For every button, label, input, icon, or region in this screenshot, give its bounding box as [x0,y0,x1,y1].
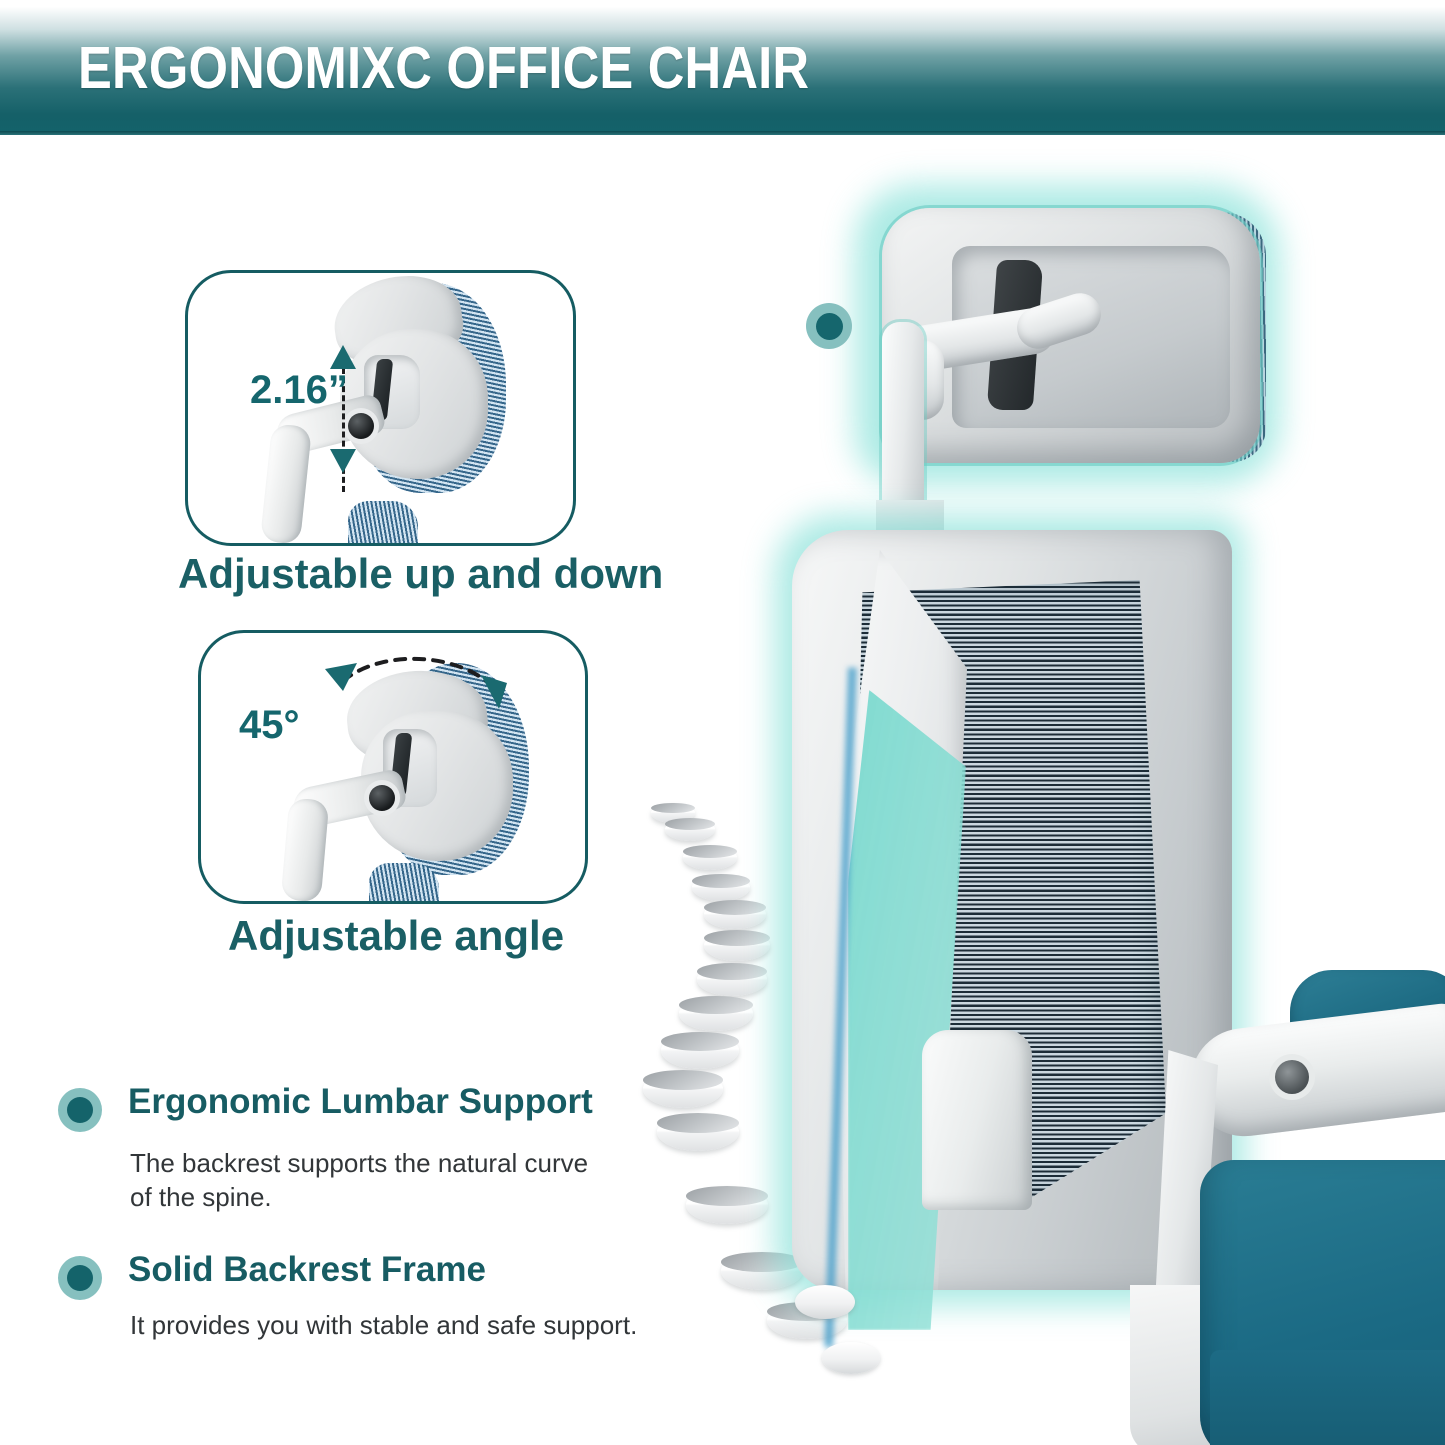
backrest-teal-rim [824,667,1007,1352]
measure-label-height: 2.16” [250,368,348,413]
caster-ghost-2 [822,1342,880,1374]
bullet-title-backrest-frame: Solid Backrest Frame [128,1250,486,1290]
bullet-marker-icon-2 [58,1256,102,1300]
arrow-up-icon [330,345,356,369]
chair-product-image [600,150,1445,1445]
bullet-desc-lumbar-support-line1: The backrest supports the natural curve [130,1146,588,1180]
page-title: ERGONOMIXC OFFICE CHAIR [78,36,809,100]
bullet-desc-backrest-frame-line1: It provides you with stable and safe sup… [130,1308,637,1342]
header-underline-divider [0,131,1445,135]
measure-label-angle: 45° [239,703,300,748]
feature-caption-adjustable-angle: Adjustable angle [228,912,564,960]
bullet-title-lumbar-support: Ergonomic Lumbar Support [128,1082,593,1122]
feature-caption-adjustable-up-down: Adjustable up and down [178,550,663,598]
headrest-callout-dot [806,303,852,349]
angle-rotation-arc [321,647,511,731]
arrow-down-icon [330,449,356,473]
bullet-marker-icon-1 [58,1088,102,1132]
bullet-desc-lumbar-support-line2: of the spine. [130,1180,272,1214]
feature-callout-adjustable-angle: 45° [198,630,588,904]
armrest-pivot [1275,1060,1309,1094]
infographic-page: ERGONOMIXC OFFICE CHAIR 2.16” Adjustable… [0,0,1445,1445]
lumbar-support-block [922,1030,1032,1210]
seat-cushion-lower [1210,1350,1445,1445]
feature-callout-adjustable-up-down: 2.16” [185,270,576,546]
caster-ghost-1 [795,1285,855,1319]
